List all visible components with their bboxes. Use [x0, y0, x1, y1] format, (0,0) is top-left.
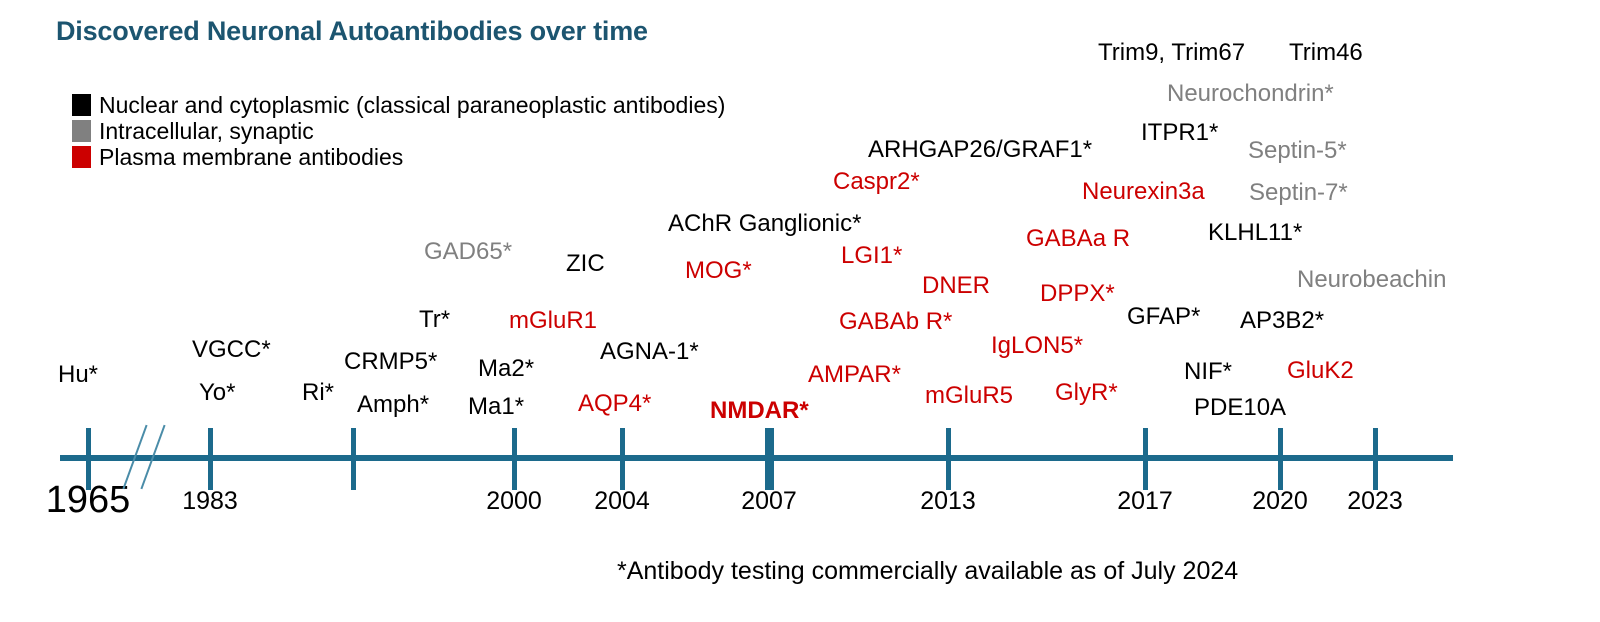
antibody-label: mGluR5 [925, 384, 1013, 408]
antibody-label: GABAb R* [839, 310, 952, 334]
antibody-label: Trim9, Trim67 [1098, 41, 1245, 65]
axis-tick-label: 2020 [1252, 487, 1308, 516]
antibody-label: Caspr2* [833, 170, 920, 194]
axis-tick [208, 428, 213, 490]
legend-label: Intracellular, synaptic [99, 120, 314, 143]
antibody-label: ARHGAP26/GRAF1* [868, 138, 1092, 162]
antibody-label: PDE10A [1194, 396, 1286, 420]
axis-tick [765, 428, 774, 490]
antibody-label: AMPAR* [808, 363, 901, 387]
antibody-label: Tr* [419, 308, 450, 332]
antibody-label: Ma1* [468, 395, 524, 419]
antibody-label: GluK2 [1287, 359, 1354, 383]
axis-tick [351, 428, 356, 490]
legend-row: Intracellular, synaptic [72, 118, 725, 144]
antibody-label: MOG* [685, 259, 752, 283]
antibody-label: ITPR1* [1141, 121, 1218, 145]
antibody-label: mGluR1 [509, 309, 597, 333]
axis-tick-label: 2013 [920, 487, 976, 516]
antibody-label: Septin-7* [1249, 181, 1348, 205]
axis-tick [512, 428, 517, 490]
page-title: Discovered Neuronal Autoantibodies over … [56, 16, 648, 47]
antibody-label: AQP4* [578, 392, 651, 416]
axis-tick-label: 2017 [1117, 487, 1173, 516]
antibody-label: KLHL11* [1208, 221, 1302, 245]
antibody-label: AChR Ganglionic* [668, 212, 861, 236]
axis-tick [620, 428, 625, 490]
legend-swatch-icon [72, 120, 91, 142]
antibody-label: ZIC [566, 252, 605, 276]
antibody-label: VGCC* [192, 338, 271, 362]
antibody-label: Neurochondrin* [1167, 82, 1334, 106]
axis-tick-label: 2004 [594, 487, 650, 516]
axis-tick-label: 2023 [1347, 487, 1403, 516]
antibody-label: DPPX* [1040, 282, 1115, 306]
timeline-axis [60, 455, 1453, 461]
antibody-label: Ri* [302, 381, 334, 405]
axis-tick-label: 2007 [741, 487, 797, 516]
legend-swatch-icon [72, 146, 91, 168]
antibody-label: Trim46 [1289, 41, 1363, 65]
axis-tick [1278, 428, 1283, 490]
antibody-label: Ma2* [478, 357, 534, 381]
antibody-label: Neurexin3a [1082, 180, 1205, 204]
antibody-label: GlyR* [1055, 381, 1118, 405]
antibody-label: CRMP5* [344, 350, 437, 374]
antibody-label: LGI1* [841, 244, 902, 268]
timeline-figure: Discovered Neuronal Autoantibodies over … [0, 0, 1600, 622]
axis-tick [1143, 428, 1148, 490]
legend-swatch-icon [72, 94, 91, 116]
antibody-label: AGNA-1* [600, 340, 699, 364]
antibody-label: Septin-5* [1248, 139, 1347, 163]
antibody-label: Yo* [199, 381, 236, 405]
axis-tick [1373, 428, 1378, 490]
antibody-label: GFAP* [1127, 305, 1200, 329]
legend-label: Nuclear and cytoplasmic (classical paran… [99, 94, 725, 117]
footnote: *Antibody testing commercially available… [617, 557, 1238, 586]
antibody-label: Amph* [357, 393, 429, 417]
antibody-label: GABAa R [1026, 227, 1130, 251]
antibody-label: NMDAR* [710, 399, 809, 423]
antibody-label: AP3B2* [1240, 309, 1324, 333]
axis-tick-label: 1983 [182, 487, 238, 516]
antibody-label: Hu* [58, 363, 98, 387]
legend-row: Nuclear and cytoplasmic (classical paran… [72, 92, 725, 118]
legend: Nuclear and cytoplasmic (classical paran… [72, 92, 725, 170]
legend-row: Plasma membrane antibodies [72, 144, 725, 170]
legend-label: Plasma membrane antibodies [99, 146, 403, 169]
antibody-label: GAD65* [424, 240, 512, 264]
antibody-label: Neurobeachin [1297, 268, 1446, 292]
antibody-label: NIF* [1184, 360, 1232, 384]
antibody-label: DNER [922, 274, 990, 298]
axis-tick-label: 2000 [486, 487, 542, 516]
antibody-label: IgLON5* [991, 334, 1083, 358]
axis-tick-label: 1965 [46, 479, 131, 522]
axis-tick [946, 428, 951, 490]
